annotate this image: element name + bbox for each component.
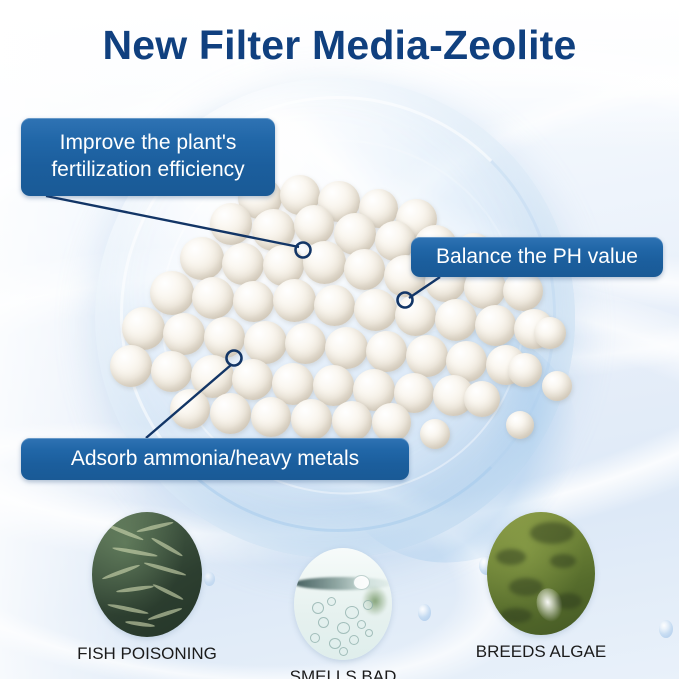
callout-ph[interactable]: Balance the PH value	[411, 237, 663, 277]
zeolite-bead-pile	[110, 175, 580, 465]
smells-bad-photo	[294, 548, 392, 660]
droplet-icon	[659, 620, 673, 638]
page-title: New Filter Media-Zeolite	[0, 22, 679, 69]
fish-poisoning-photo	[92, 512, 202, 637]
fish-poisoning-label: FISH POISONING	[47, 644, 247, 664]
callout-adsorb[interactable]: Adsorb ammonia/heavy metals	[21, 438, 409, 480]
callout-fertilization-label: Improve the plant's fertilization effici…	[51, 130, 244, 184]
problem-breeds-algae[interactable]: BREEDS ALGAE	[441, 512, 641, 662]
problem-fish-poisoning[interactable]: FISH POISONING	[47, 512, 247, 664]
callout-fertilization[interactable]: Improve the plant's fertilization effici…	[21, 118, 275, 196]
breeds-algae-photo	[487, 512, 595, 635]
smells-bad-label: SMELLS BAD	[243, 667, 443, 679]
product-infographic: New Filter Media-Zeolite Improve the pla…	[0, 0, 679, 679]
problem-smells-bad[interactable]: SMELLS BAD	[243, 548, 443, 679]
breeds-algae-label: BREEDS ALGAE	[441, 642, 641, 662]
